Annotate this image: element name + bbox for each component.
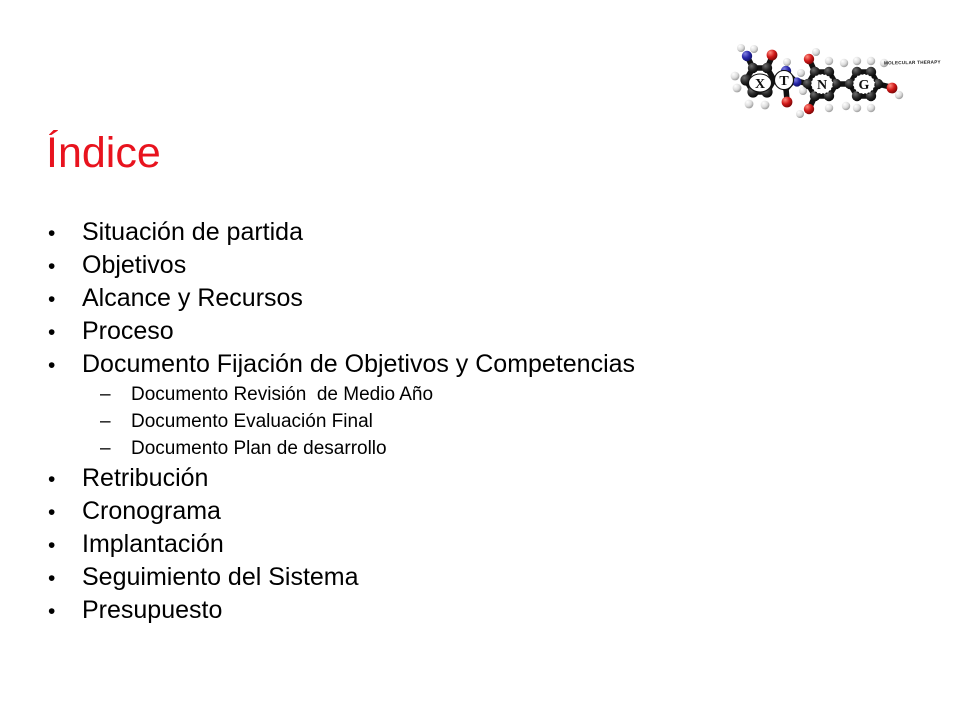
list-item-label: Documento Fijación de Objetivos y Compet…: [82, 348, 840, 381]
bullet-dot-icon: •: [40, 283, 82, 316]
sub-list-item[interactable]: –Documento Plan de desarrollo: [40, 435, 840, 462]
bullet-dot-icon: •: [40, 463, 82, 496]
bullet-dot-icon: •: [40, 250, 82, 283]
bullet-dash-icon: –: [92, 408, 131, 435]
list-item-label: Cronograma: [82, 495, 840, 528]
list-item-label: Seguimiento del Sistema: [82, 561, 840, 594]
list-item[interactable]: •Alcance y Recursos: [40, 282, 840, 315]
index-outline-list: •Situación de partida•Objetivos•Alcance …: [40, 216, 840, 627]
list-item[interactable]: •Presupuesto: [40, 594, 840, 627]
list-item[interactable]: •Seguimiento del Sistema: [40, 561, 840, 594]
list-item[interactable]: •Implantación: [40, 528, 840, 561]
list-item[interactable]: •Situación de partida: [40, 216, 840, 249]
list-item-label: Presupuesto: [82, 594, 840, 627]
svg-text:G: G: [859, 78, 870, 93]
sub-list-item[interactable]: –Documento Revisión de Medio Año: [40, 381, 840, 408]
bullet-dot-icon: •: [40, 496, 82, 529]
list-item[interactable]: •Objetivos: [40, 249, 840, 282]
svg-text:N: N: [817, 78, 827, 93]
list-item-label: Implantación: [82, 528, 840, 561]
list-item-label: Situación de partida: [82, 216, 840, 249]
list-item-label: Retribución: [82, 462, 840, 495]
list-item[interactable]: •Cronograma: [40, 495, 840, 528]
sub-list-item-label: Documento Evaluación Final: [131, 408, 840, 435]
list-item-label: Alcance y Recursos: [82, 282, 840, 315]
bullet-dot-icon: •: [40, 316, 82, 349]
list-item[interactable]: •Documento Fijación de Objetivos y Compe…: [40, 348, 840, 381]
bullet-dot-icon: •: [40, 217, 82, 250]
sub-list-item-label: Documento Revisión de Medio Año: [131, 381, 840, 408]
logo-wordmark: MOLECULAR THERAPY: [884, 60, 941, 66]
sub-list-item-label: Documento Plan de desarrollo: [131, 435, 840, 462]
svg-text:T: T: [779, 74, 789, 89]
bullet-dash-icon: –: [92, 435, 131, 462]
bullet-dot-icon: •: [40, 529, 82, 562]
sub-list-item[interactable]: –Documento Evaluación Final: [40, 408, 840, 435]
bullet-dot-icon: •: [40, 349, 82, 382]
bullet-dot-icon: •: [40, 595, 82, 628]
list-item-label: Objetivos: [82, 249, 840, 282]
molecule-graphic: X T N G: [724, 40, 948, 122]
xtng-molecular-therapy-logo: X T N G MOLECULAR THERAPY: [724, 40, 948, 122]
bullet-dash-icon: –: [92, 381, 131, 408]
list-item[interactable]: •Retribución: [40, 462, 840, 495]
page-title: Índice: [46, 128, 161, 178]
list-item-label: Proceso: [82, 315, 840, 348]
bullet-dot-icon: •: [40, 562, 82, 595]
svg-text:X: X: [755, 77, 765, 92]
slide-canvas: Índice: [0, 0, 960, 720]
list-item[interactable]: •Proceso: [40, 315, 840, 348]
